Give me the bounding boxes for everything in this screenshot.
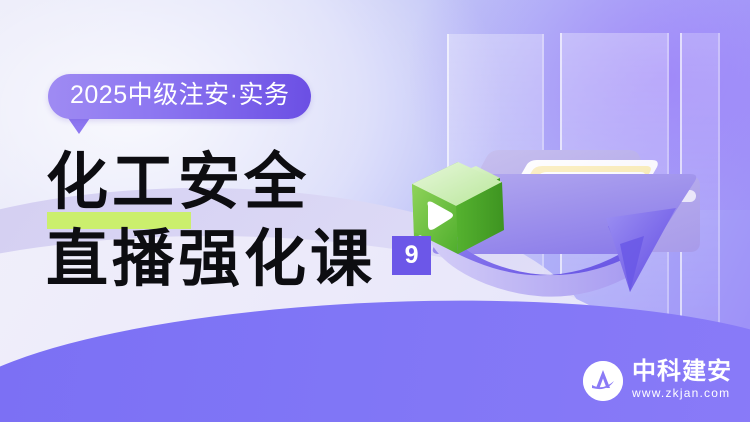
banner-content: 2025中级注安·实务 化工安全 直播强化课 9 [0,0,470,422]
logo-website-url: www.zkjan.com [632,385,732,402]
badge-pointer [68,118,90,134]
zkjan-emblem-icon [583,361,623,401]
title-line-1-wrapper: 化工安全 [46,148,466,217]
title-line-2: 直播强化课 [46,225,376,294]
course-category-badge: 2025中级注安·实务 [48,74,311,119]
title-line-1: 化工安全 [46,148,310,217]
title-line-2-wrapper: 直播强化课 9 [46,225,466,294]
course-banner: 2025中级注安·实务 化工安全 直播强化课 9 中科建安 www.zkjan.… [0,0,750,422]
logo-company-name: 中科建安 [632,359,732,384]
banner-headline: 化工安全 直播强化课 9 [46,148,466,295]
episode-badge: 9 [392,236,431,275]
brand-logo: 中科建安 www.zkjan.com [583,359,732,402]
logo-text-block: 中科建安 www.zkjan.com [632,359,732,402]
